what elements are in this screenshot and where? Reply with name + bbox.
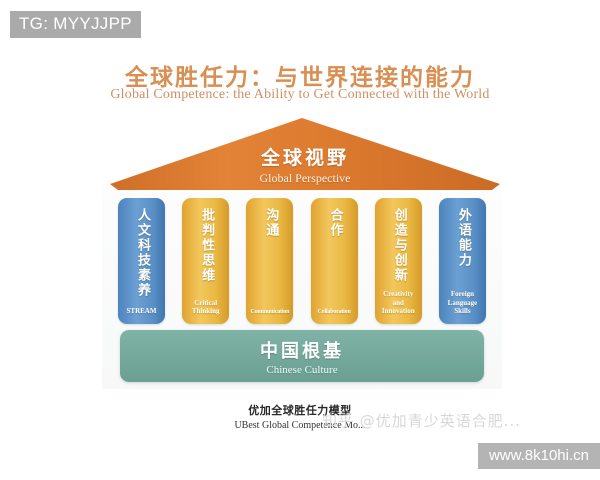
pillar-label-en: STREAM xyxy=(120,307,163,316)
pillar-foreign-language[interactable]: 外语能力 Foreign Language Skills xyxy=(439,198,486,324)
zhihu-watermark: 知乎 @优加青少英语合肥... xyxy=(322,410,521,431)
foundation-label-cn: 中国根基 xyxy=(260,337,344,363)
pillar-label-en: Communication xyxy=(248,309,291,317)
pillar-label-cn: 合作 xyxy=(327,208,342,238)
foundation-block[interactable]: 中国根基 Chinese Culture xyxy=(120,330,484,382)
pillar-stream[interactable]: 人文科技素养 STREAM xyxy=(118,198,165,324)
pillar-communication[interactable]: 沟通 Communication xyxy=(246,198,293,324)
pillar-creativity-innovation[interactable]: 创造与创新 Creativity and Innovation xyxy=(375,198,422,324)
pillar-label-cn: 批判性思维 xyxy=(198,208,213,283)
pillar-label-cn: 人文科技素养 xyxy=(134,208,149,298)
roof-triangle-shape xyxy=(110,118,500,190)
page-title-en: Global Competence: the Ability to Get Co… xyxy=(0,87,600,103)
pillar-label-en: Foreign Language Skills xyxy=(441,290,484,316)
pillar-label-en: Critical Thinking xyxy=(184,299,227,317)
pillar-label-cn: 沟通 xyxy=(262,208,277,238)
pillar-label-cn: 创造与创新 xyxy=(391,208,406,283)
pillar-label-en: Collaboration xyxy=(313,309,356,317)
pillar-label-cn: 外语能力 xyxy=(455,208,470,268)
diagram-canvas: TG: MYYJJPP 全球胜任力：与世界连接的能力 Global Compet… xyxy=(0,0,600,480)
pillar-collaboration[interactable]: 合作 Collaboration xyxy=(311,198,358,324)
pillar-critical-thinking[interactable]: 批判性思维 Critical Thinking xyxy=(182,198,229,324)
foundation-label-en: Chinese Culture xyxy=(266,364,337,376)
pillar-label-en: Creativity and Innovation xyxy=(377,290,420,316)
url-watermark-badge: www.8k10hi.cn xyxy=(478,443,600,469)
pillar-row: 人文科技素养 STREAM 批判性思维 Critical Thinking 沟通… xyxy=(118,198,486,324)
tg-watermark-badge: TG: MYYJJPP xyxy=(10,11,141,38)
